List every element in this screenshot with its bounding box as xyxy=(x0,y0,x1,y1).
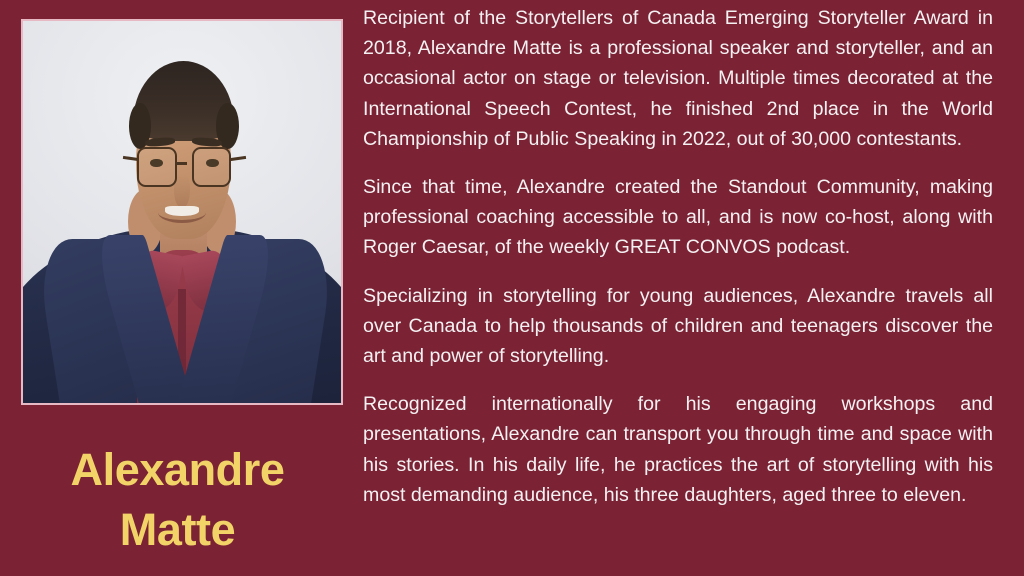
eye-left xyxy=(150,159,163,168)
profile-column: Alexandre Matte xyxy=(0,0,355,576)
bio-paragraph-4: Recognized internationally for his engag… xyxy=(363,389,993,510)
speaker-bio-slide: Alexandre Matte Recipient of the Storyte… xyxy=(0,0,1024,576)
lens-left xyxy=(137,147,177,187)
glasses-temple-right xyxy=(230,156,246,161)
portrait-illustration xyxy=(23,21,341,403)
speaker-first-name: Alexandre xyxy=(0,440,355,500)
eye-right xyxy=(206,159,219,168)
speaker-bio-text: Recipient of the Storytellers of Canada … xyxy=(363,3,993,510)
bio-paragraph-2: Since that time, Alexandre created the S… xyxy=(363,172,993,263)
speaker-portrait-photo xyxy=(21,19,343,405)
speaker-name: Alexandre Matte xyxy=(0,440,355,560)
speaker-last-name: Matte xyxy=(0,500,355,560)
bio-paragraph-1: Recipient of the Storytellers of Canada … xyxy=(363,3,993,154)
glasses-bridge xyxy=(177,162,187,165)
lens-right xyxy=(192,147,232,187)
bio-paragraph-3: Specializing in storytelling for young a… xyxy=(363,281,993,372)
